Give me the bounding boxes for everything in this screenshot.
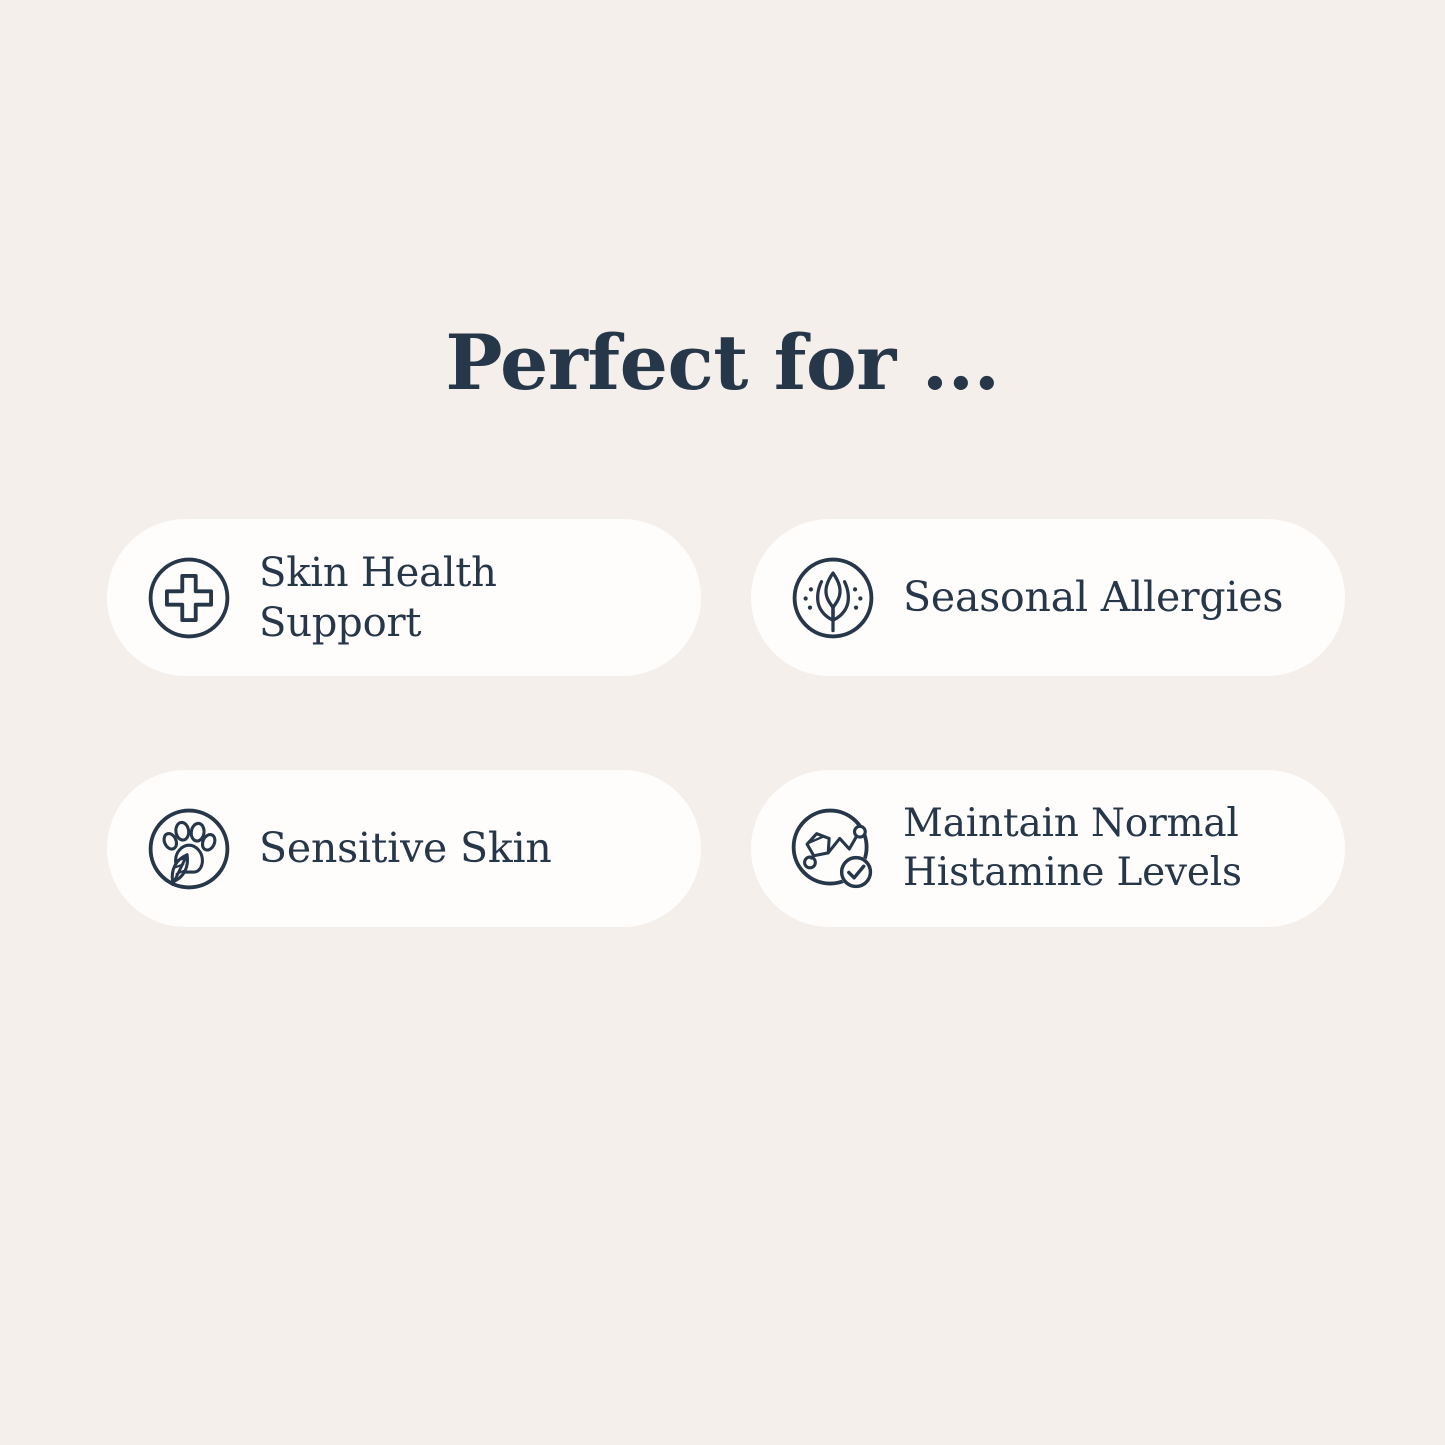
benefit-card-sensitive-skin[interactable]: Sensitive Skin xyxy=(107,770,701,927)
paw-leaf-circle-icon xyxy=(141,801,237,897)
benefit-label-line-1: Sensitive Skin xyxy=(259,823,667,874)
benefits-panel: Perfect for ... Skin Health Support xyxy=(0,0,1445,1445)
benefit-label: Maintain Normal Histamine Levels xyxy=(903,800,1311,898)
benefit-card-seasonal-allergies[interactable]: Seasonal Allergies xyxy=(751,519,1345,676)
benefit-label: Sensitive Skin xyxy=(259,823,667,874)
benefit-label: Seasonal Allergies xyxy=(903,572,1311,623)
benefit-label-line-2: Histamine Levels xyxy=(903,849,1311,898)
benefit-label-line-2: Support xyxy=(259,598,667,648)
molecule-check-circle-icon xyxy=(785,801,881,897)
benefit-label-line-1: Maintain Normal xyxy=(903,800,1311,849)
benefit-label-line-1: Skin Health xyxy=(259,548,667,598)
benefit-card-maintain-normal-histamine-levels[interactable]: Maintain Normal Histamine Levels xyxy=(751,770,1345,927)
benefit-label: Skin Health Support xyxy=(259,548,667,648)
flower-pollen-circle-icon xyxy=(785,550,881,646)
benefit-card-skin-health-support[interactable]: Skin Health Support xyxy=(107,519,701,676)
benefits-grid: Skin Health Support xyxy=(107,519,1345,927)
benefit-label-line-1: Seasonal Allergies xyxy=(903,572,1311,623)
page-title-container: Perfect for ... xyxy=(0,274,1445,452)
plus-circle-icon xyxy=(141,550,237,646)
page-title: Perfect for ... xyxy=(445,325,999,401)
